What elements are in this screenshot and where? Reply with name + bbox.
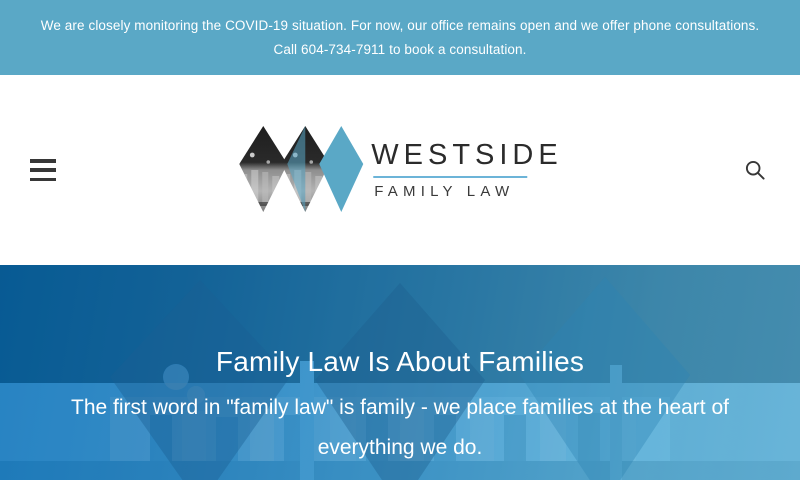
hero-section: Family Law Is About Families The first w… bbox=[0, 265, 800, 480]
hero-subtitle: The first word in "family law" is family… bbox=[70, 388, 730, 468]
hamburger-menu-icon[interactable] bbox=[30, 159, 56, 181]
hamburger-bar-bottom bbox=[30, 178, 56, 182]
site-logo[interactable]: WESTSIDE FAMILY LAW bbox=[237, 122, 562, 218]
logo-wordmark: WESTSIDE FAMILY LAW bbox=[371, 140, 562, 200]
logo-secondary-text: FAMILY LAW bbox=[371, 183, 562, 200]
logo-primary-text: WESTSIDE bbox=[371, 140, 562, 170]
hero-content: Family Law Is About Families The first w… bbox=[0, 265, 800, 480]
hamburger-bar-top bbox=[30, 159, 56, 163]
site-header: WESTSIDE FAMILY LAW bbox=[0, 75, 800, 265]
covid-notice-banner: We are closely monitoring the COVID-19 s… bbox=[0, 0, 800, 75]
hero-title: Family Law Is About Families bbox=[216, 345, 584, 379]
logo-divider-rule bbox=[373, 176, 527, 178]
search-icon[interactable] bbox=[742, 157, 768, 183]
search-glass-glyph bbox=[744, 159, 766, 181]
hamburger-bar-middle bbox=[30, 168, 56, 172]
covid-notice-line-2: Call 604-734-7911 to book a consultation… bbox=[273, 38, 526, 62]
logo-diamond-mark bbox=[237, 122, 365, 218]
covid-notice-line-1: We are closely monitoring the COVID-19 s… bbox=[41, 14, 759, 38]
